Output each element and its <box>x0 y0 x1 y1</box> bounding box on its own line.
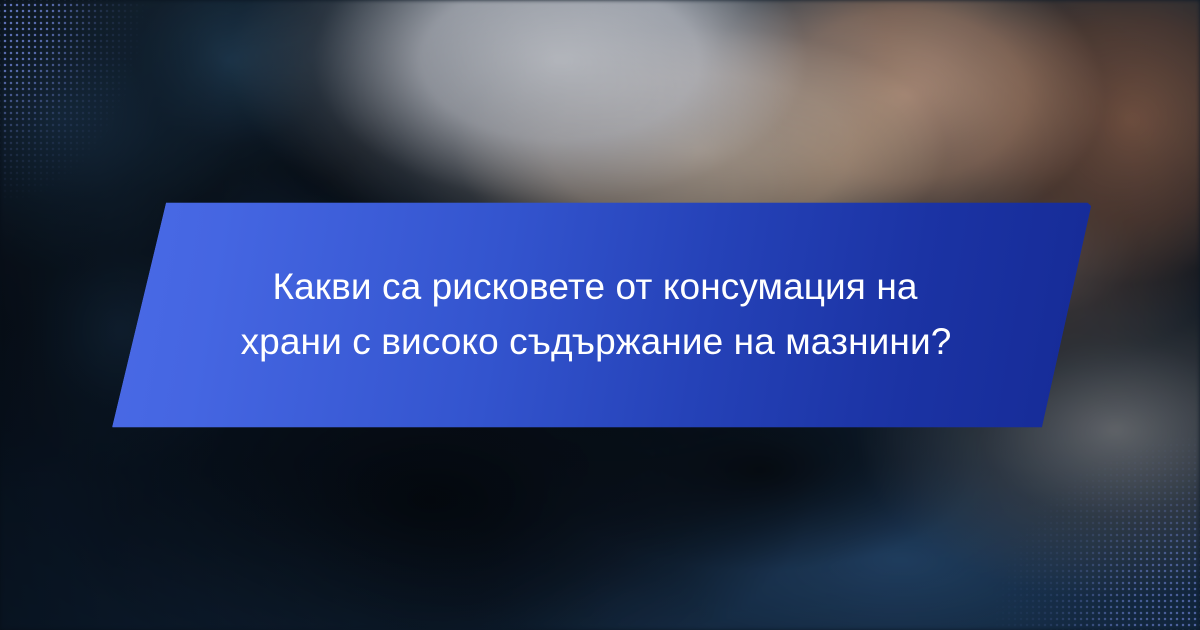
question-line-2: храни с високо съдържание на мазнини? <box>241 323 952 362</box>
question-card-text: Какви са рисковете от консумация на хран… <box>100 195 1100 435</box>
banner-root: Какви са рисковете от консумация на хран… <box>0 0 1200 630</box>
question-card: Какви са рисковете от консумация на хран… <box>100 195 1100 435</box>
question-line-1: Какви са рисковете от консумация на <box>272 268 917 307</box>
